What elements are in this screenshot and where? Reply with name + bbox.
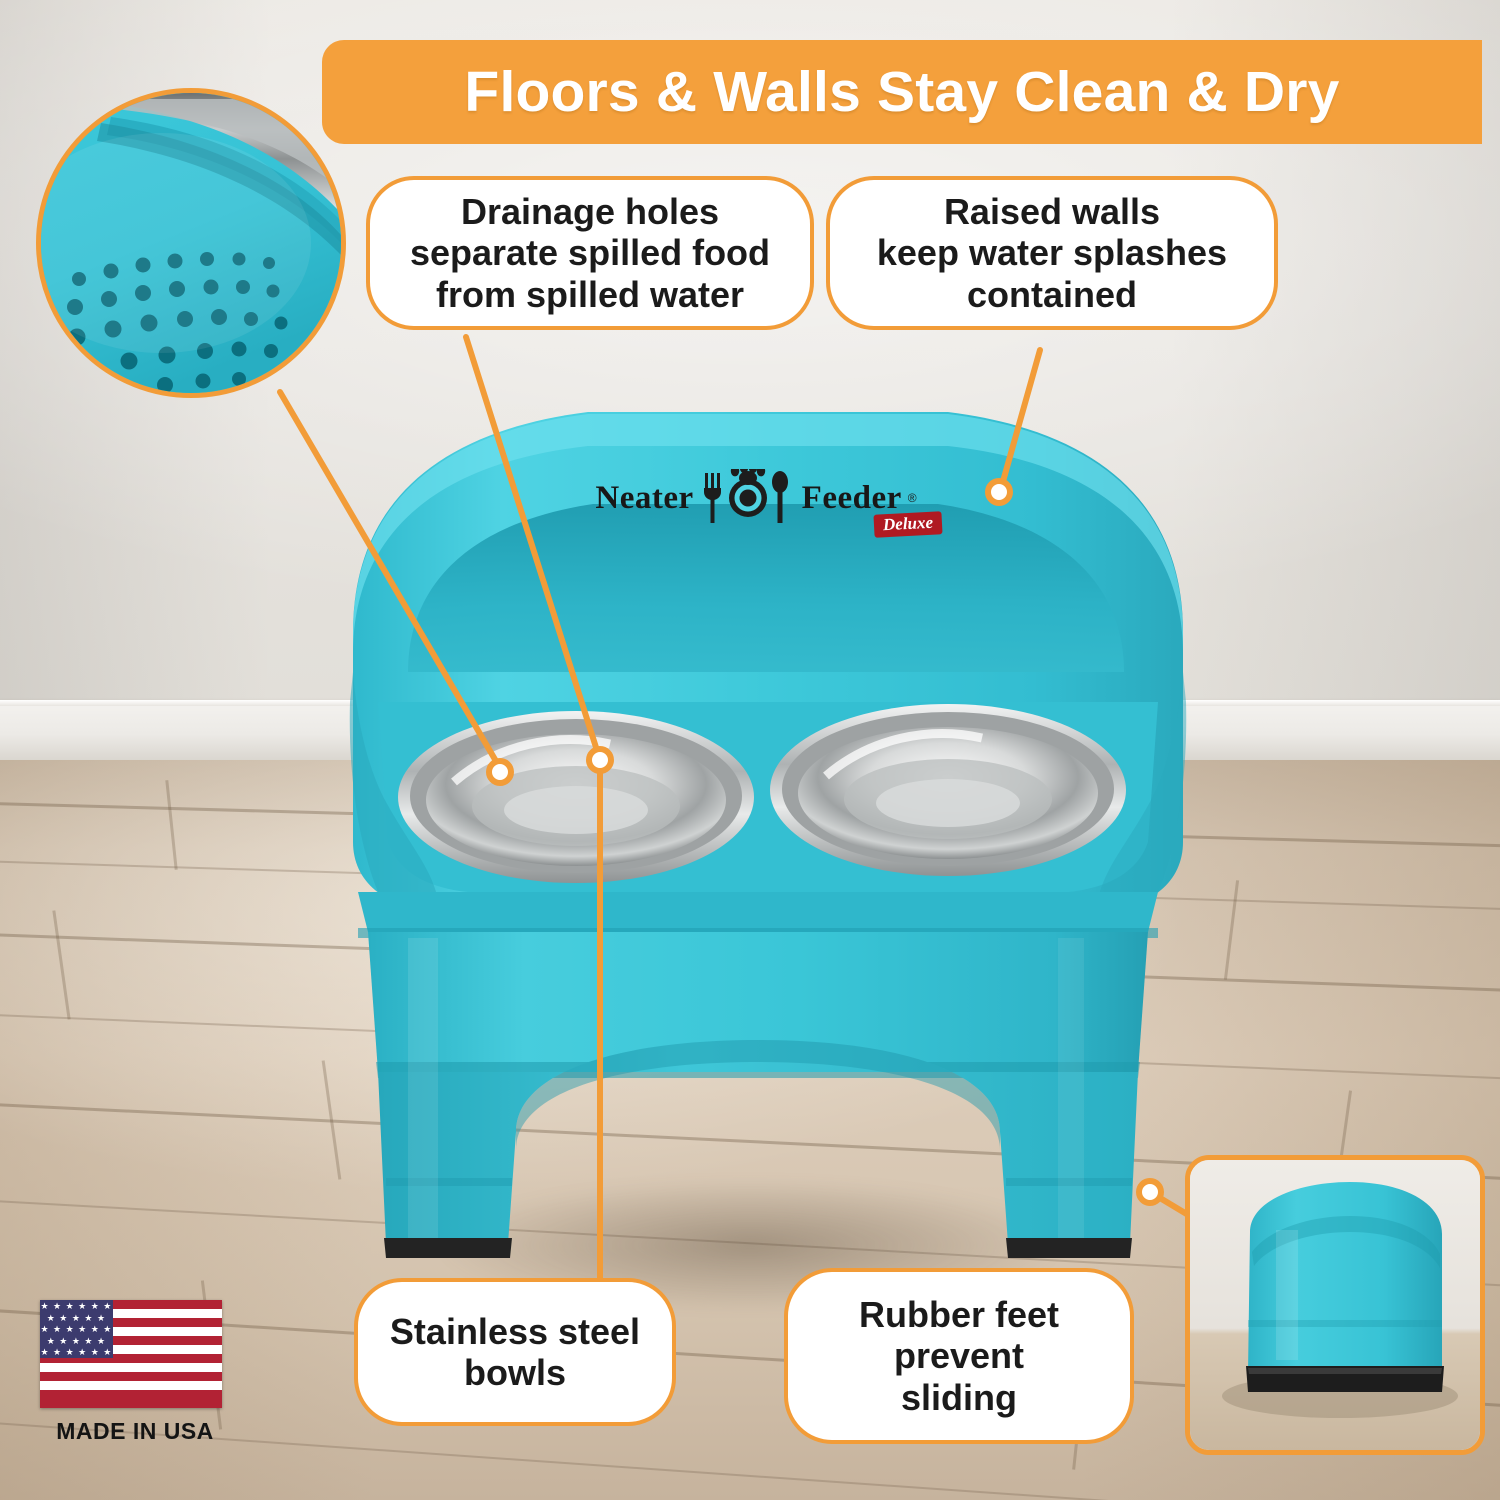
inset-rubber-foot-closeup: [1185, 1155, 1485, 1455]
logo-word-right: Feeder: [802, 480, 902, 517]
made-in-usa-badge: ★ ★ ★ ★ ★ ★★ ★ ★ ★ ★★ ★ ★ ★ ★ ★ ★ ★ ★ ★ …: [40, 1300, 230, 1445]
inset-drainage-holes-closeup: [36, 88, 346, 398]
neater-feeder-logo: Neater: [566, 462, 946, 534]
made-in-usa-label: MADE IN USA: [40, 1418, 230, 1445]
callout-stainless-bowls: Stainless steel bowls: [354, 1278, 676, 1426]
callout-raised-walls: Raised walls keep water splashes contain…: [826, 176, 1278, 330]
logo-word-left: Neater: [595, 480, 693, 517]
fork-bowl-paw-icon: [700, 469, 796, 527]
callout-drainage-holes: Drainage holes separate spilled food fro…: [366, 176, 814, 330]
usa-flag-icon: ★ ★ ★ ★ ★ ★★ ★ ★ ★ ★★ ★ ★ ★ ★ ★ ★ ★ ★ ★ …: [40, 1300, 222, 1408]
headline-banner: Floors & Walls Stay Clean & Dry: [322, 40, 1482, 144]
deluxe-badge: Deluxe: [873, 511, 942, 538]
flag-stars: ★ ★ ★ ★ ★ ★★ ★ ★ ★ ★★ ★ ★ ★ ★ ★ ★ ★ ★ ★ …: [40, 1300, 113, 1358]
registered-mark: ®: [908, 491, 917, 505]
callout-rubber-feet: Rubber feet prevent sliding: [784, 1268, 1134, 1444]
product-infographic: Neater: [0, 0, 1500, 1500]
